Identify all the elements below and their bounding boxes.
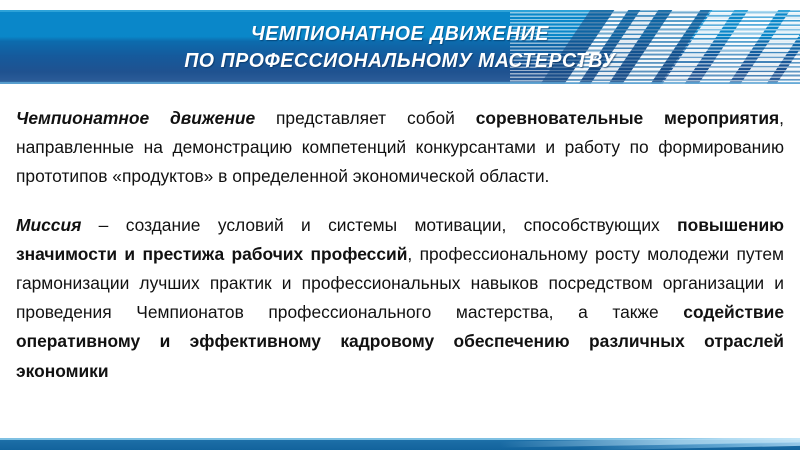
page-title-line-2: ПО ПРОФЕССИОНАЛЬНОМУ МАСТЕРСТВУ (184, 47, 615, 74)
banner-diagonal-stripe-5 (591, 10, 720, 84)
definition-text-1: представляет собой (255, 108, 476, 128)
page-title-line-1: ЧЕМПИОНАТНОЕ ДВИЖЕНИЕ (251, 20, 549, 47)
page-title: ЧЕМПИОНАТНОЕ ДВИЖЕНИЕ ПО ПРОФЕССИОНАЛЬНО… (0, 10, 800, 84)
banner-bottom-line (0, 82, 800, 84)
banner-top-highlight-line (0, 10, 800, 12)
paragraph-mission: Миссия – создание условий и системы моти… (16, 211, 784, 386)
banner-diagonal-stripe-1 (745, 10, 800, 84)
paragraph-definition: Чемпионатное движение представляет собой… (16, 104, 784, 192)
footer-bar (0, 438, 800, 450)
banner-diagonal-stripe-7 (533, 10, 648, 84)
banner-hairline-field (510, 10, 800, 84)
slide-body: Чемпионатное движение представляет собой… (16, 104, 784, 386)
banner-diagonal-stripe-6 (559, 10, 678, 84)
banner-diagonal-stripe-4 (631, 10, 754, 84)
definition-emphasis-1: соревновательные мероприятия (476, 108, 779, 128)
banner-dark-wedge (516, 10, 724, 84)
definition-term: Чемпионатное движение (16, 108, 255, 128)
mission-term: Миссия (16, 215, 81, 235)
mission-text-1: – создание условий и системы мотивации, … (81, 215, 677, 235)
banner-diagonal-stripe-2 (709, 10, 800, 84)
header-banner: ЧЕМПИОНАТНОЕ ДВИЖЕНИЕ ПО ПРОФЕССИОНАЛЬНО… (0, 10, 800, 84)
banner-diagonal-stripe-3 (667, 10, 798, 84)
